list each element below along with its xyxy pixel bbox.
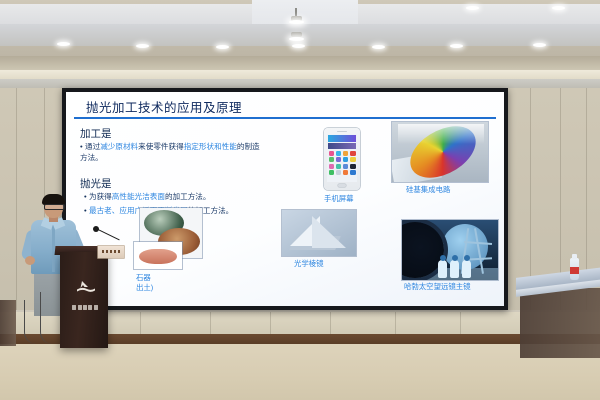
- bullet-part: 来使零件获得: [138, 142, 184, 151]
- downlight-icon: [216, 45, 229, 49]
- wall-cornice: [0, 70, 600, 79]
- slide-title: 抛光加工技术的应用及原理: [86, 97, 242, 116]
- slide-heading-polishing: 抛光是: [80, 176, 112, 191]
- downlight-icon: [292, 44, 305, 48]
- water-bottle: [570, 258, 579, 280]
- downlight-icon: [466, 6, 479, 10]
- lectern: [60, 252, 108, 348]
- downlight-icon: [57, 42, 70, 46]
- title-underline: [74, 117, 496, 119]
- left-furniture: [0, 300, 16, 346]
- cable: [24, 300, 39, 344]
- eyeglasses-icon: [44, 204, 65, 210]
- nameplate: [98, 246, 124, 258]
- phone-screen-figure: [324, 128, 360, 190]
- wave-mountain-logo-icon: [76, 280, 96, 294]
- figure-caption-hubble: 哈勃太空望远镜主镜: [404, 281, 471, 292]
- downlight-icon: [136, 44, 149, 48]
- bullet-part: 的加工方法。: [165, 192, 211, 201]
- hubble-mirror-figure: [402, 220, 498, 280]
- stone-tool-figure: [134, 242, 182, 269]
- downlight-icon: [552, 6, 565, 10]
- cable: [40, 292, 53, 344]
- optical-prism-figure: [282, 210, 356, 256]
- wall-band-shadow: [0, 79, 600, 88]
- slide-heading-processing: 加工是: [80, 126, 112, 141]
- figure-caption-prism: 光学棱镜: [294, 258, 324, 269]
- figure-caption-stone-sub: 出土): [136, 282, 153, 293]
- downlight-icon: [372, 45, 385, 49]
- side-table-body: [520, 288, 600, 358]
- bullet-part: 为获得: [89, 192, 112, 201]
- floor: [0, 344, 600, 400]
- bullet-part-highlight: 减少原材料: [100, 142, 138, 151]
- slide-bullet: •通过减少原材料来使零件获得指定形状和性能的制造方法。: [80, 142, 265, 164]
- slide-bullet: •为获得高性能光洁表面的加工方法。: [84, 192, 269, 203]
- figure-caption-phone: 手机屏幕: [324, 193, 354, 204]
- bullet-part-highlight: 指定形状和性能: [184, 142, 237, 151]
- figure-caption-wafer: 硅基集成电路: [406, 184, 450, 195]
- ceiling: [0, 0, 600, 56]
- bullet-part-highlight: 高性能光洁表面: [112, 192, 165, 201]
- bullet-part: 通过: [85, 142, 100, 151]
- silicon-wafer-figure: [392, 122, 488, 182]
- projected-slide: 抛光加工技术的应用及原理 加工是 •通过减少原材料来使零件获得指定形状和性能的制…: [66, 92, 504, 306]
- downlight-icon: [533, 43, 546, 47]
- lecture-hall-photo: 抛光加工技术的应用及原理 加工是 •通过减少原材料来使零件获得指定形状和性能的制…: [0, 0, 600, 400]
- lectern-inscription: [68, 304, 102, 311]
- downlight-icon: [450, 44, 463, 48]
- wall-band-upper: [0, 56, 600, 70]
